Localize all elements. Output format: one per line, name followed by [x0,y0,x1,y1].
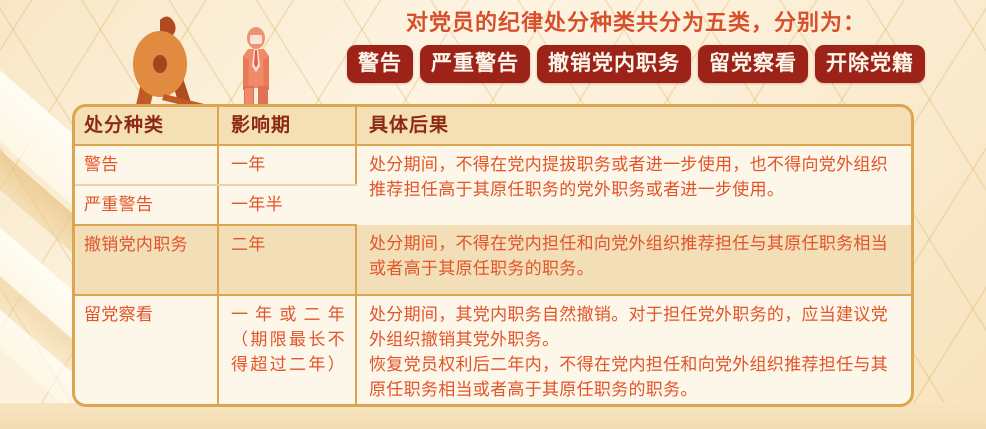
cell-consequence-probation: 处分期间，其党内职务自然撤销。对于担任党外职务的，应当建议党外组织撤销其党外职务… [356,295,914,407]
cell-period-serious-warning: 一年半 [218,185,356,225]
column-header-period: 影响期 [218,104,356,145]
column-header-category: 处分种类 [72,104,218,145]
header-block: 对党员的纪律处分种类共分为五类，分别为： 警告 严重警告 撤销党内职务 留党察看… [300,8,972,83]
cell-consequence-warning: 处分期间，不得在党内提拔职务或者进一步使用，也不得向党外组织推荐担任高于其原任职… [356,145,914,225]
badge-expulsion[interactable]: 开除党籍 [815,45,925,83]
cell-category-warning: 警告 [72,145,218,185]
column-header-consequence: 具体后果 [356,104,914,145]
badge-warning[interactable]: 警告 [347,45,413,83]
consequence-line: 恢复党员权利后二年内，不得在党内担任和向党外组织推荐担任与其原任职务相当或者高于… [369,352,904,402]
person-icon [228,26,284,114]
badge-revoke-party-post[interactable]: 撤销党内职务 [537,45,691,83]
badge-row: 警告 严重警告 撤销党内职务 留党察看 开除党籍 [300,45,972,83]
badge-probation[interactable]: 留党察看 [698,45,808,83]
table-header: 处分种类 影响期 具体后果 [72,104,914,145]
table-row: 留党察看 一 年 或 二 年（期限最长不得超过二年） 处分期间，其党内职务自然撤… [72,295,914,407]
cell-period-probation: 一 年 或 二 年（期限最长不得超过二年） [218,295,356,407]
cell-period-revoke-post: 二年 [218,225,356,295]
infographic-root: 对党员的纪律处分种类共分为五类，分别为： 警告 严重警告 撤销党内职务 留党察看… [0,0,986,429]
page-title: 对党员的纪律处分种类共分为五类，分别为： [300,8,972,38]
table-body: 警告 一年 处分期间，不得在党内提拔职务或者进一步使用，也不得向党外组织推荐担任… [72,145,914,407]
table-row: 撤销党内职务 二年 处分期间，不得在党内担任和向党外组织推荐担任与其原任职务相当… [72,225,914,295]
cell-category-serious-warning: 严重警告 [72,185,218,225]
consequence-line: 处分期间，其党内职务自然撤销。对于担任党外职务的，应当建议党外组织撤销其党外职务… [369,302,904,352]
cell-category-probation: 留党察看 [72,295,218,407]
disciplinary-table-container: 处分种类 影响期 具体后果 警告 一年 处分期间，不得在党内提拔职务或者进一步使… [72,104,914,407]
table-row: 警告 一年 处分期间，不得在党内提拔职务或者进一步使用，也不得向党外组织推荐担任… [72,145,914,185]
table-header-row: 处分种类 影响期 具体后果 [72,104,914,145]
disciplinary-table: 处分种类 影响期 具体后果 警告 一年 处分期间，不得在党内提拔职务或者进一步使… [72,104,914,407]
cell-consequence-revoke-post: 处分期间，不得在党内担任和向党外组织推荐担任与其原任职务相当或者高于其原任职务的… [356,225,914,295]
badge-serious-warning[interactable]: 严重警告 [420,45,530,83]
cell-category-revoke-post: 撤销党内职务 [72,225,218,295]
cell-period-warning: 一年 [218,145,356,185]
